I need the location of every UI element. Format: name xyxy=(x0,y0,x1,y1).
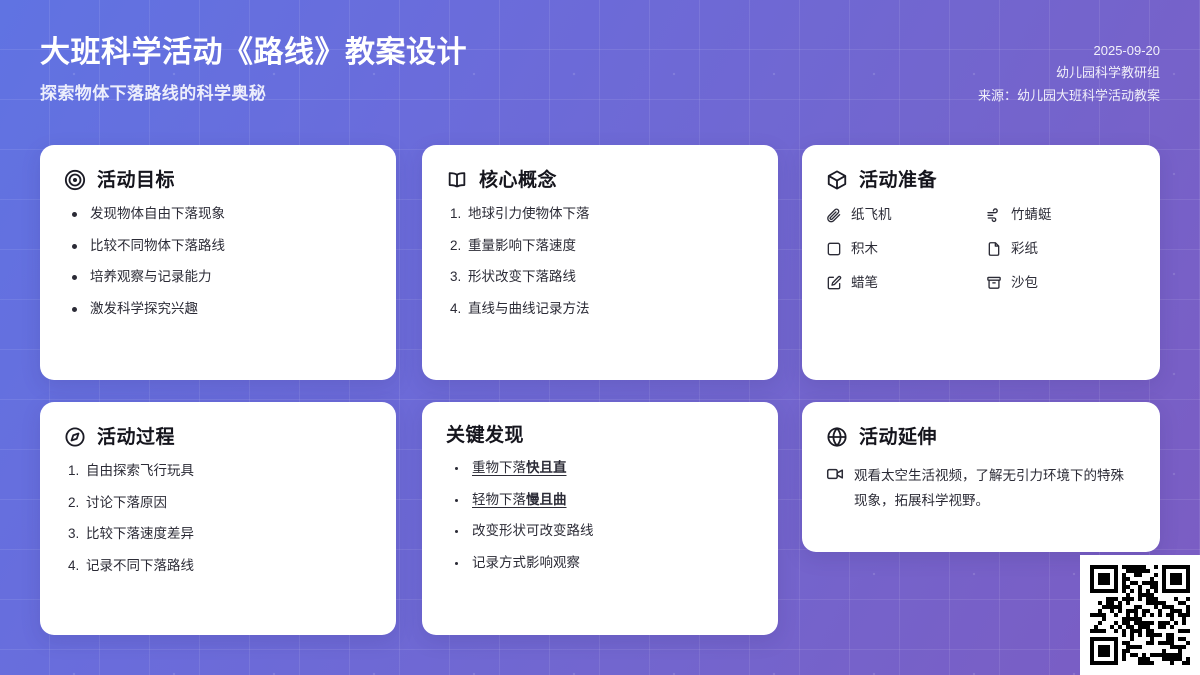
header-source: 来源：幼儿园大班科学活动教案 xyxy=(978,85,1160,107)
card-concepts-list: 地球引力使物体下落 重量影响下落速度 形状改变下落路线 直线与曲线记录方法 xyxy=(446,207,754,315)
card-goals-list: 发现物体自由下落现象 比较不同物体下落路线 培养观察与记录能力 激发科学探究兴趣 xyxy=(64,207,372,315)
header-meta: 2025-09-20 幼儿园科学教研组 来源：幼儿园大班科学活动教案 xyxy=(978,40,1160,107)
material-item: 蜡笔 xyxy=(826,275,976,291)
material-label: 彩纸 xyxy=(1011,242,1038,256)
list-item: 自由探索飞行玩具 xyxy=(86,464,372,478)
card-concepts-title: 核心概念 xyxy=(479,171,557,190)
page-subtitle: 探索物体下落路线的科学奥秘 xyxy=(40,79,467,104)
material-item: 沙包 xyxy=(986,275,1136,291)
card-extension-title: 活动延伸 xyxy=(859,428,937,447)
card-extension: 活动延伸 观看太空生活视频，了解无引力环境下的特殊现象，拓展科学视野。 xyxy=(802,402,1160,552)
list-item: 比较不同物体下落路线 xyxy=(86,239,372,253)
material-label: 蜡笔 xyxy=(851,276,878,290)
list-item: 形状改变下落路线 xyxy=(468,270,754,284)
globe-icon xyxy=(826,426,848,448)
slide-root: 大班科学活动《路线》教案设计 探索物体下落路线的科学奥秘 2025-09-20 … xyxy=(0,0,1200,675)
book-open-icon xyxy=(446,169,468,191)
compass-icon xyxy=(64,426,86,448)
materials-grid: 纸飞机 竹蜻蜓 积木 xyxy=(826,207,1136,291)
list-item: 记录不同下落路线 xyxy=(86,559,372,573)
edit-square-icon xyxy=(826,275,842,291)
square-icon xyxy=(826,241,842,257)
header-org: 幼儿园科学教研组 xyxy=(978,62,1160,84)
wind-icon xyxy=(986,207,1002,223)
page-title: 大班科学活动《路线》教案设计 xyxy=(40,34,467,72)
list-item: 改变形状可改变路线 xyxy=(468,524,754,538)
list-item: 记录方式影响观察 xyxy=(468,556,754,570)
card-goals-title: 活动目标 xyxy=(97,171,175,190)
box-icon xyxy=(826,169,848,191)
archive-icon xyxy=(986,275,1002,291)
material-label: 积木 xyxy=(851,242,878,256)
material-label: 沙包 xyxy=(1011,276,1038,290)
extension-text: 观看太空生活视频，了解无引力环境下的特殊现象，拓展科学视野。 xyxy=(854,464,1136,514)
card-process-title: 活动过程 xyxy=(97,428,175,447)
material-item: 彩纸 xyxy=(986,241,1136,257)
card-concepts: 核心概念 地球引力使物体下落 重量影响下落速度 形状改变下落路线 直线与曲线记录… xyxy=(422,145,778,380)
card-materials-title: 活动准备 xyxy=(859,171,937,190)
card-process: 活动过程 自由探索飞行玩具 讨论下落原因 比较下落速度差异 记录不同下落路线 xyxy=(40,402,396,635)
paperclip-icon xyxy=(826,207,842,223)
card-findings: 关键发现 重物下落快且直 轻物下落慢且曲 改变形状可改变路线 记录方式影响观察 xyxy=(422,402,778,635)
card-goals-header: 活动目标 xyxy=(64,169,372,191)
video-icon xyxy=(826,465,844,483)
card-materials-header: 活动准备 xyxy=(826,169,1136,191)
list-item: 激发科学探究兴趣 xyxy=(86,302,372,316)
header: 大班科学活动《路线》教案设计 探索物体下落路线的科学奥秘 2025-09-20 … xyxy=(0,0,1200,130)
header-left: 大班科学活动《路线》教案设计 探索物体下落路线的科学奥秘 xyxy=(40,34,467,104)
qr-code[interactable] xyxy=(1080,555,1200,675)
card-goals: 活动目标 发现物体自由下落现象 比较不同物体下落路线 培养观察与记录能力 激发科… xyxy=(40,145,396,380)
card-extension-header: 活动延伸 xyxy=(826,426,1136,448)
extension-body: 观看太空生活视频，了解无引力环境下的特殊现象，拓展科学视野。 xyxy=(826,464,1136,514)
material-label: 竹蜻蜓 xyxy=(1011,208,1052,222)
material-item: 纸飞机 xyxy=(826,207,976,223)
list-item: 讨论下落原因 xyxy=(86,496,372,510)
list-item: 比较下落速度差异 xyxy=(86,527,372,541)
material-item: 竹蜻蜓 xyxy=(986,207,1136,223)
material-label: 纸飞机 xyxy=(851,208,892,222)
list-item: 轻物下落慢且曲 xyxy=(468,493,754,507)
list-item: 重量影响下落速度 xyxy=(468,239,754,253)
qr-canvas xyxy=(1090,565,1190,665)
list-item: 地球引力使物体下落 xyxy=(468,207,754,221)
list-item: 培养观察与记录能力 xyxy=(86,270,372,284)
list-item: 重物下落快且直 xyxy=(468,461,754,475)
card-findings-header: 关键发现 xyxy=(446,426,754,445)
target-icon xyxy=(64,169,86,191)
card-materials: 活动准备 纸飞机 竹蜻蜓 xyxy=(802,145,1160,380)
list-item: 发现物体自由下落现象 xyxy=(86,207,372,221)
file-icon xyxy=(986,241,1002,257)
card-concepts-header: 核心概念 xyxy=(446,169,754,191)
list-item: 直线与曲线记录方法 xyxy=(468,302,754,316)
header-date: 2025-09-20 xyxy=(978,40,1160,62)
card-process-header: 活动过程 xyxy=(64,426,372,448)
material-item: 积木 xyxy=(826,241,976,257)
card-findings-title: 关键发现 xyxy=(446,426,524,445)
card-process-list: 自由探索飞行玩具 讨论下落原因 比较下落速度差异 记录不同下落路线 xyxy=(64,464,372,572)
card-findings-list: 重物下落快且直 轻物下落慢且曲 改变形状可改变路线 记录方式影响观察 xyxy=(446,461,754,569)
